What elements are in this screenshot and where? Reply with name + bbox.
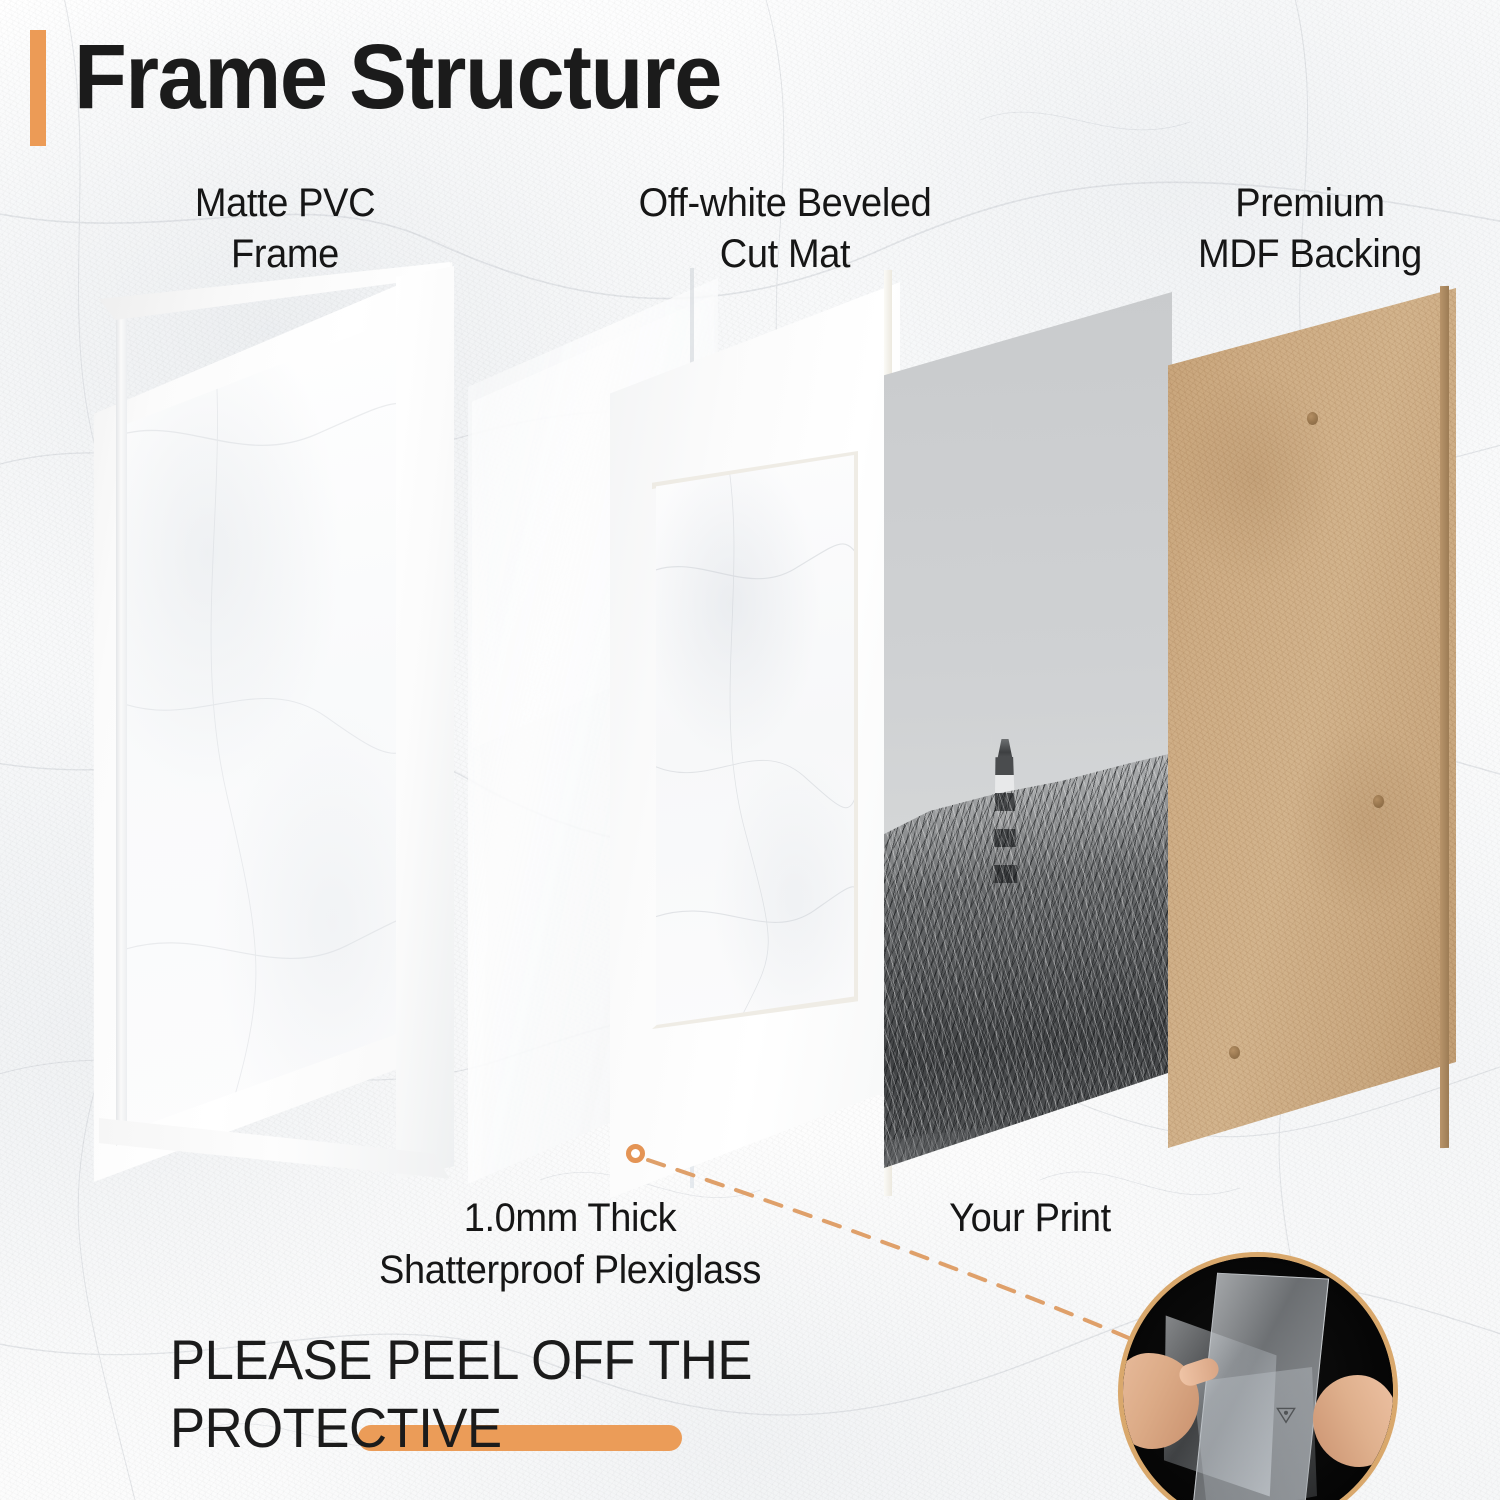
mdf-board-edge [1440,286,1449,1148]
callout-marker-icon [626,1144,645,1163]
peel-line-1: PLEASE PEEL OFF THE PROTECTIVE [170,1328,752,1459]
infographic-canvas: Frame Structure Matte PVC Frame Off-whit… [0,0,1500,1500]
mdf-speck [1229,1046,1240,1059]
frame-rail-right [396,266,454,1180]
layer-photo-print [884,292,1172,1168]
frame-inner-bevel-left [116,298,127,1146]
label-line: 1.0mm Thick [304,1192,836,1244]
mat-window-marble [656,455,854,1019]
peel-line-2: FILMS ON THE BOTH SIDES [170,1463,997,1500]
label-plexiglass: 1.0mm Thick Shatterproof Plexiglass [304,1192,836,1296]
film-logo-icon [1275,1405,1297,1424]
frame-opening [118,300,416,1142]
mdf-speck [1307,412,1318,425]
mat-window-opening [656,455,854,1025]
mdf-speck [1373,795,1384,808]
peel-demo-photo-inset [1118,1252,1398,1500]
label-your-print: Your Print [888,1192,1173,1244]
peel-instruction: PLEASE PEEL OFF THE PROTECTIVE FILMS ON … [170,1326,997,1500]
label-line: Shatterproof Plexiglass [304,1244,836,1296]
frame-opening-marble [118,300,416,1144]
